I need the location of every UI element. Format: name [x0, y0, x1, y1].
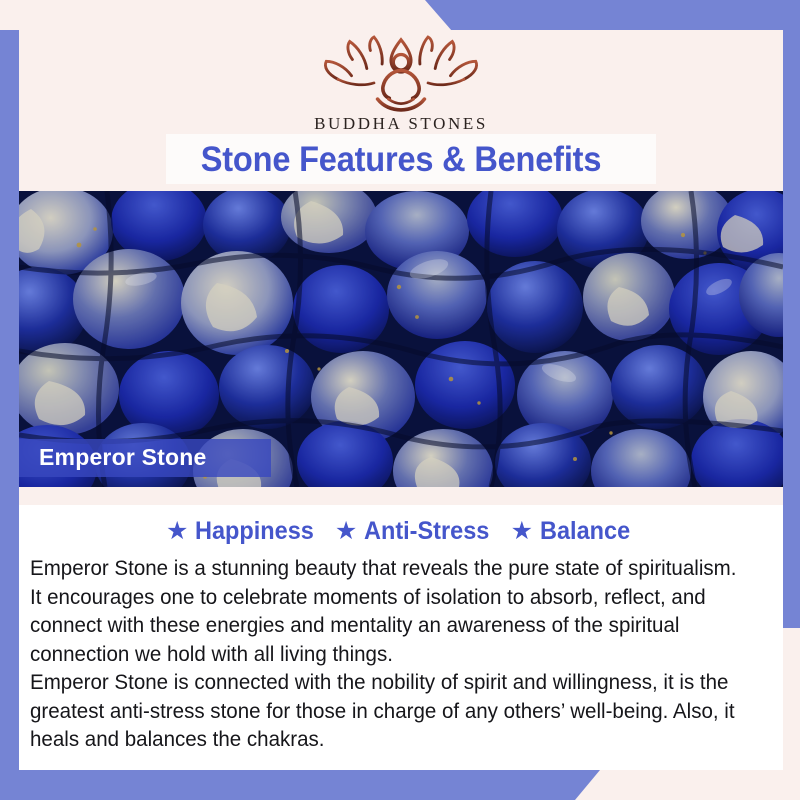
benefit-label: Anti-Stress — [364, 517, 489, 545]
title-band: Stone Features & Benefits — [19, 136, 783, 191]
description-section: ★ Happiness ★ Anti-Stress ★ Balance Empe… — [19, 487, 783, 770]
frame-right-strip — [783, 0, 800, 628]
benefit-item: ★ Balance — [511, 517, 636, 545]
description-paragraph-1: Emperor Stone is a stunning beauty that … — [30, 554, 741, 668]
description-text: Emperor Stone is a stunning beauty that … — [19, 554, 783, 754]
benefit-item: ★ Happiness — [166, 517, 322, 545]
stone-label-badge: Emperor Stone — [19, 439, 271, 477]
brand-header: BUDDHA STONES — [19, 30, 783, 136]
lotus-meditation-icon — [311, 34, 491, 112]
benefit-label: Happiness — [195, 517, 314, 545]
frame-top-bar — [0, 0, 800, 31]
brand-logo: BUDDHA STONES — [19, 34, 783, 134]
card-body: BUDDHA STONES Stone Features & Benefits — [19, 30, 783, 770]
page-title: Stone Features & Benefits — [46, 136, 757, 184]
frame-left-strip — [0, 30, 19, 770]
star-icon: ★ — [511, 519, 533, 544]
stone-photo: Emperor Stone — [19, 191, 783, 487]
benefit-label: Balance — [540, 517, 630, 545]
brand-name: BUDDHA STONES — [314, 114, 488, 134]
star-icon: ★ — [335, 519, 357, 544]
stone-info-card: BUDDHA STONES Stone Features & Benefits — [0, 0, 800, 800]
benefit-item: ★ Anti-Stress — [335, 517, 498, 545]
description-paragraph-2: Emperor Stone is connected with the nobi… — [30, 668, 741, 754]
star-icon: ★ — [166, 519, 188, 544]
benefits-row: ★ Happiness ★ Anti-Stress ★ Balance — [19, 517, 783, 545]
frame-bottom-bar — [0, 770, 800, 800]
body-divider — [19, 487, 783, 505]
